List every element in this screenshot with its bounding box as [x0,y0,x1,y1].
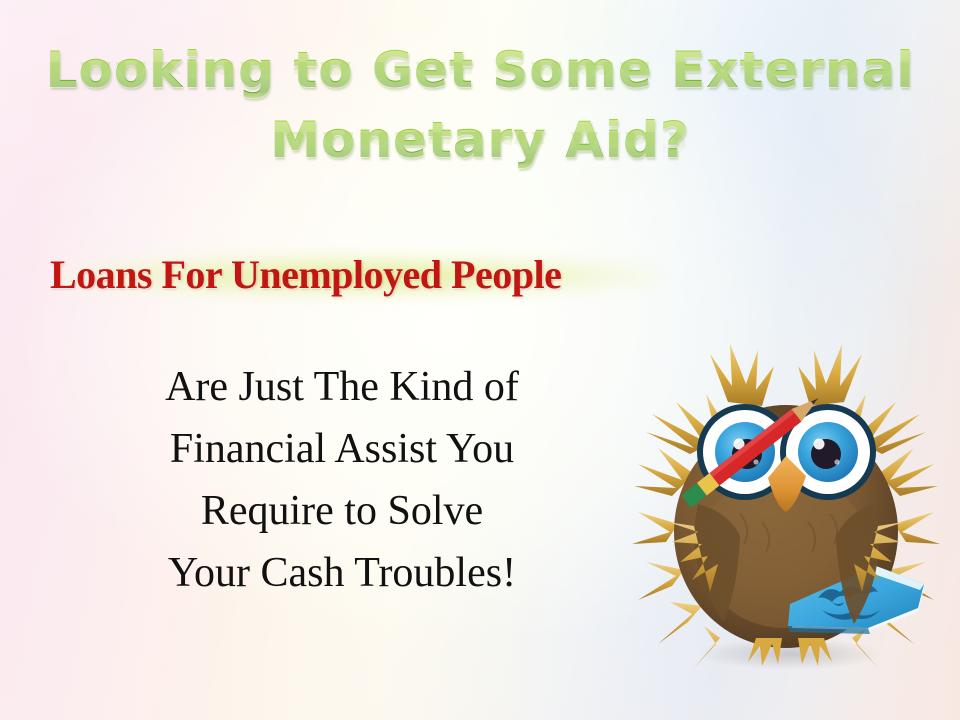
body-line-4: Your Cash Troubles! [92,542,592,604]
headline-line-2-block: Monetary Aid? Monetary Aid? [0,112,960,192]
body-line-2: Financial Assist You [92,418,592,480]
headline: Looking to Get Some External Looking to … [0,42,960,192]
promo-slide: Looking to Get Some External Looking to … [0,0,960,720]
headline-line-2: Monetary Aid? [0,112,960,168]
body-line-3: Require to Solve [92,480,592,542]
body-copy: Are Just The Kind of Financial Assist Yo… [92,356,592,604]
headline-line-1: Looking to Get Some External [0,42,960,98]
owl-illustration [632,336,940,672]
body-line-1: Are Just The Kind of [92,356,592,418]
subtitle: Loans For Unemployed People [50,248,670,302]
owl-ear-tufts [710,344,862,406]
headline-line-1-block: Looking to Get Some External Looking to … [0,42,960,122]
subtitle-text: Loans For Unemployed People [50,248,670,302]
